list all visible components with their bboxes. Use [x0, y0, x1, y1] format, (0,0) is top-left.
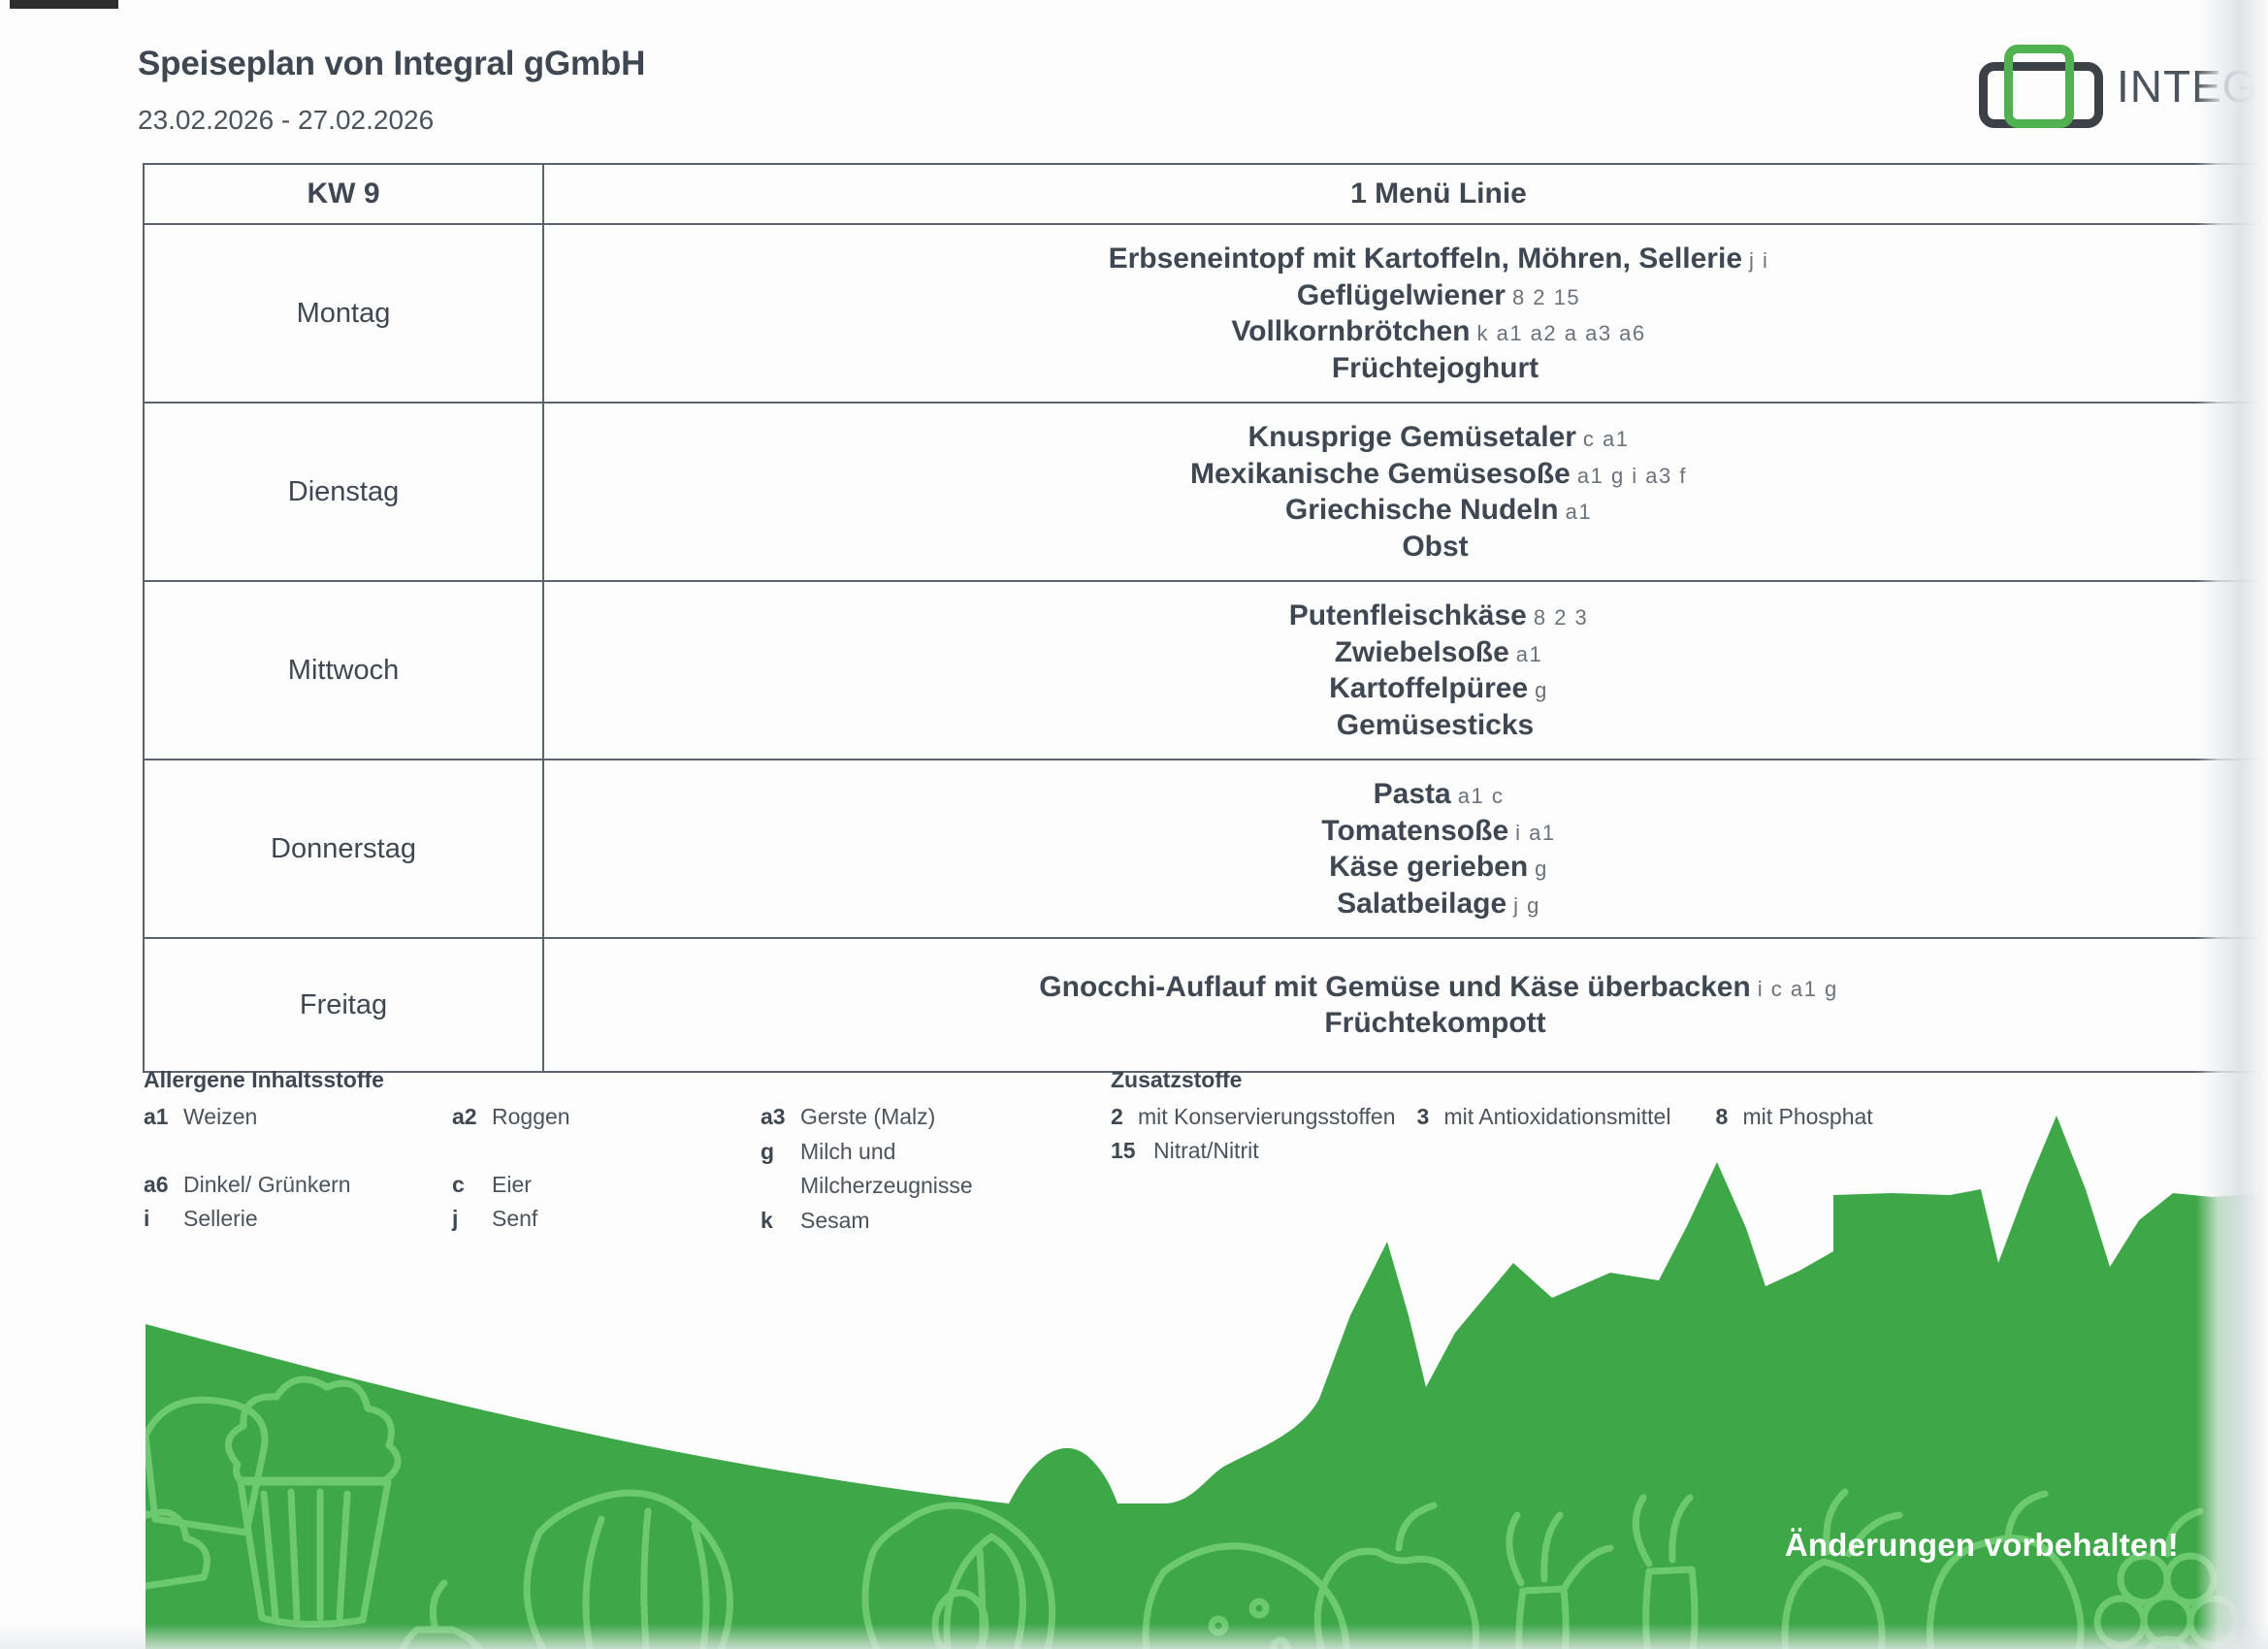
- dish-codes: g: [1535, 857, 1548, 881]
- legend-label: mit Phosphat: [1742, 1100, 1872, 1134]
- legend-code: g: [761, 1135, 790, 1170]
- dish-name: Mexikanische Gemüsesoße: [1190, 458, 1571, 490]
- dish-line: Tomatensoßei a1: [554, 813, 2268, 850]
- legend-code: i: [144, 1202, 173, 1237]
- legend-item: g Milch und Milcherzeugnisse: [761, 1135, 1003, 1204]
- legend-label: Sesam: [800, 1204, 870, 1239]
- legend-label: Sellerie: [183, 1202, 258, 1237]
- dish-name: Knusprige Gemüsetaler: [1247, 421, 1575, 453]
- allergen-column-2: a2 Roggen c Eier j Senf: [452, 1100, 761, 1239]
- dish-line: Mexikanische Gemüsesoßea1 g i a3 f: [554, 456, 2268, 493]
- dish-line: Käse geriebeng: [554, 849, 2268, 886]
- dish-line: Früchtekompott: [554, 1005, 2268, 1042]
- menu-cell-freitag: Gnocchi-Auflauf mit Gemüse und Käse über…: [543, 938, 2268, 1072]
- legend-code: a2: [452, 1100, 481, 1135]
- dish-line: Gnocchi-Auflauf mit Gemüse und Käse über…: [554, 969, 2268, 1006]
- legend-code: c: [452, 1168, 481, 1203]
- dish-line: Kartoffelpüreeg: [554, 670, 2268, 707]
- dish-name: Putenfleischkäse: [1289, 599, 1527, 631]
- logo-wordmark: INTEGR: [2117, 60, 2268, 113]
- legend-label: mit Konservierungsstoffen: [1138, 1100, 1396, 1134]
- menu-table-body: Montag Erbseneintopf mit Kartoffeln, Möh…: [144, 224, 2268, 1072]
- allergen-column-3: a3 Gerste (Malz) g Milch und Milcherzeug…: [761, 1100, 1069, 1239]
- dish-name: Zwiebelsoße: [1335, 636, 1509, 668]
- legend-code: a6: [144, 1168, 173, 1203]
- day-label-montag: Montag: [144, 224, 543, 403]
- additive-legend: Zusatzstoffe 2 mit Konservierungsstoffen…: [1111, 1067, 2081, 1167]
- legend-item: j Senf: [452, 1202, 761, 1237]
- legend-item: 2 mit Konservierungsstoffen: [1111, 1100, 1396, 1134]
- dish-line: Gemüsesticks: [554, 707, 2268, 744]
- menu-cell-donnerstag: Pastaa1 c Tomatensoßei a1 Käse geriebeng…: [543, 760, 2268, 938]
- integral-logo-icon: [1979, 45, 2103, 128]
- legend-code: 15: [1111, 1134, 1144, 1168]
- legend-item: a1 Weizen: [144, 1100, 452, 1135]
- kw-header: KW 9: [144, 164, 543, 224]
- dish-name: Gnocchi-Auflauf mit Gemüse und Käse über…: [1039, 971, 1750, 1003]
- legend-item: a6 Dinkel/ Grünkern: [144, 1168, 452, 1203]
- legend-label: Dinkel/ Grünkern: [183, 1168, 351, 1203]
- banner-doodles: [48, 1379, 2237, 1649]
- table-row: Freitag Gnocchi-Auflauf mit Gemüse und K…: [144, 938, 2268, 1072]
- day-label-mittwoch: Mittwoch: [144, 581, 543, 760]
- dish-line: Vollkornbrötchenk a1 a2 a a3 a6: [554, 313, 2268, 350]
- allergen-legend-title: Allergene Inhaltsstoffe: [144, 1067, 1114, 1093]
- table-row: Mittwoch Putenfleischkäse8 2 3 Zwiebelso…: [144, 581, 2268, 760]
- dish-name: Käse gerieben: [1329, 851, 1528, 883]
- dish-name: Pasta: [1374, 778, 1451, 810]
- legend-code: 3: [1417, 1100, 1435, 1134]
- page-title: Speiseplan von Integral gGmbH: [138, 45, 645, 83]
- dish-codes: i c a1 g: [1758, 977, 1838, 1001]
- dish-line: Pastaa1 c: [554, 776, 2268, 813]
- legend-code: k: [761, 1204, 790, 1239]
- legend-item: k Sesam: [761, 1204, 1069, 1239]
- legend-code: a1: [144, 1100, 173, 1135]
- allergen-legend: Allergene Inhaltsstoffe a1 Weizen a6 Din…: [144, 1067, 1114, 1239]
- company-logo: INTEGR: [1979, 45, 2268, 128]
- dish-codes: c a1: [1583, 427, 1630, 451]
- table-header-row: KW 9 1 Menü Linie: [144, 164, 2268, 224]
- legend-label: Weizen: [183, 1100, 257, 1135]
- dish-codes: a1 g i a3 f: [1577, 464, 1687, 488]
- menu-cell-dienstag: Knusprige Gemüsetalerc a1 Mexikanische G…: [543, 403, 2268, 581]
- dish-line: Knusprige Gemüsetalerc a1: [554, 419, 2268, 456]
- legend-code: 2: [1111, 1100, 1128, 1134]
- dish-name: Früchtekompott: [1324, 1007, 1545, 1039]
- dish-line: Obst: [554, 529, 2268, 566]
- dish-line: Putenfleischkäse8 2 3: [554, 598, 2268, 634]
- legend-item: i Sellerie: [144, 1202, 452, 1237]
- dish-line: Griechische Nudelna1: [554, 492, 2268, 529]
- legend-label: Eier: [492, 1168, 532, 1203]
- legend-item: 3 mit Antioxidationsmittel: [1417, 1100, 1671, 1134]
- legend-label: Roggen: [492, 1100, 570, 1135]
- legend-label: Gerste (Malz): [800, 1100, 935, 1135]
- dish-name: Salatbeilage: [1337, 888, 1507, 920]
- dish-codes: 8 2 15: [1512, 285, 1580, 309]
- menu-cell-mittwoch: Putenfleischkäse8 2 3 Zwiebelsoßea1 Kart…: [543, 581, 2268, 760]
- dish-line: Salatbeilagej g: [554, 886, 2268, 922]
- legend-label: Milch und Milcherzeugnisse: [800, 1135, 1003, 1204]
- legend-code: a3: [761, 1100, 790, 1135]
- dish-codes: k a1 a2 a a3 a6: [1476, 321, 1645, 345]
- menu-cell-montag: Erbseneintopf mit Kartoffeln, Möhren, Se…: [543, 224, 2268, 403]
- dish-line: Zwiebelsoßea1: [554, 634, 2268, 671]
- legend-label: Nitrat/Nitrit: [1153, 1134, 1259, 1168]
- legend-spacer: [144, 1135, 452, 1168]
- scan-edge-bottom: [0, 1624, 2268, 1649]
- table-row: Dienstag Knusprige Gemüsetalerc a1 Mexik…: [144, 403, 2268, 581]
- disclaimer-text: Änderungen vorbehalten!: [1785, 1527, 2179, 1564]
- additive-row: 15 Nitrat/Nitrit: [1111, 1134, 2081, 1168]
- dish-name: Tomatensoße: [1321, 815, 1508, 847]
- table-row: Montag Erbseneintopf mit Kartoffeln, Möh…: [144, 224, 2268, 403]
- dish-codes: i a1: [1515, 821, 1555, 845]
- dish-line: Erbseneintopf mit Kartoffeln, Möhren, Se…: [554, 241, 2268, 277]
- table-row: Donnerstag Pastaa1 c Tomatensoßei a1 Käs…: [144, 760, 2268, 938]
- legend-item: a2 Roggen: [452, 1100, 761, 1135]
- date-range: 23.02.2026 - 27.02.2026: [138, 105, 434, 136]
- legend-item: 15 Nitrat/Nitrit: [1111, 1134, 1259, 1168]
- menu-line-header: 1 Menü Linie: [543, 164, 2268, 224]
- additive-row: 2 mit Konservierungsstoffen 3 mit Antiox…: [1111, 1100, 2081, 1134]
- dish-codes: 8 2 3: [1534, 605, 1588, 630]
- dish-codes: a1 c: [1458, 784, 1505, 808]
- dish-name: Griechische Nudeln: [1285, 494, 1559, 526]
- legend-item: a3 Gerste (Malz): [761, 1100, 1069, 1135]
- dish-name: Obst: [1402, 531, 1468, 563]
- menu-table: KW 9 1 Menü Linie Montag Erbseneintopf m…: [143, 163, 2268, 1073]
- dish-name: Erbseneintopf mit Kartoffeln, Möhren, Se…: [1109, 242, 1742, 275]
- legend-label: Senf: [492, 1202, 537, 1237]
- dish-line: Geflügelwiener8 2 15: [554, 277, 2268, 314]
- day-label-dienstag: Dienstag: [144, 403, 543, 581]
- additive-legend-title: Zusatzstoffe: [1111, 1067, 2081, 1093]
- dish-name: Vollkornbrötchen: [1231, 315, 1470, 347]
- dish-name: Gemüsesticks: [1337, 709, 1534, 741]
- dish-line: Früchtejoghurt: [554, 350, 2268, 387]
- dish-codes: j i: [1749, 248, 1768, 273]
- day-label-freitag: Freitag: [144, 938, 543, 1072]
- scan-artifact-bar: [10, 0, 118, 9]
- legend-item: 8 mit Phosphat: [1715, 1100, 1872, 1134]
- allergen-column-1: a1 Weizen a6 Dinkel/ Grünkern i Sellerie: [144, 1100, 452, 1239]
- legend-spacer: [452, 1135, 761, 1168]
- dish-codes: a1: [1566, 500, 1592, 524]
- dish-name: Kartoffelpüree: [1329, 672, 1528, 704]
- logo-green-rect: [2004, 45, 2074, 128]
- dish-name: Geflügelwiener: [1297, 279, 1506, 311]
- legend-item: c Eier: [452, 1168, 761, 1203]
- dish-codes: j g: [1513, 893, 1540, 918]
- dish-name: Früchtejoghurt: [1332, 352, 1539, 384]
- dish-codes: g: [1535, 678, 1548, 702]
- legend-code: j: [452, 1202, 481, 1237]
- menu-plan-page: Speiseplan von Integral gGmbH 23.02.2026…: [0, 0, 2268, 1649]
- day-label-donnerstag: Donnerstag: [144, 760, 543, 938]
- legend-label: mit Antioxidationsmittel: [1444, 1100, 1671, 1134]
- dish-codes: a1: [1516, 642, 1542, 666]
- legend-code: 8: [1715, 1100, 1733, 1134]
